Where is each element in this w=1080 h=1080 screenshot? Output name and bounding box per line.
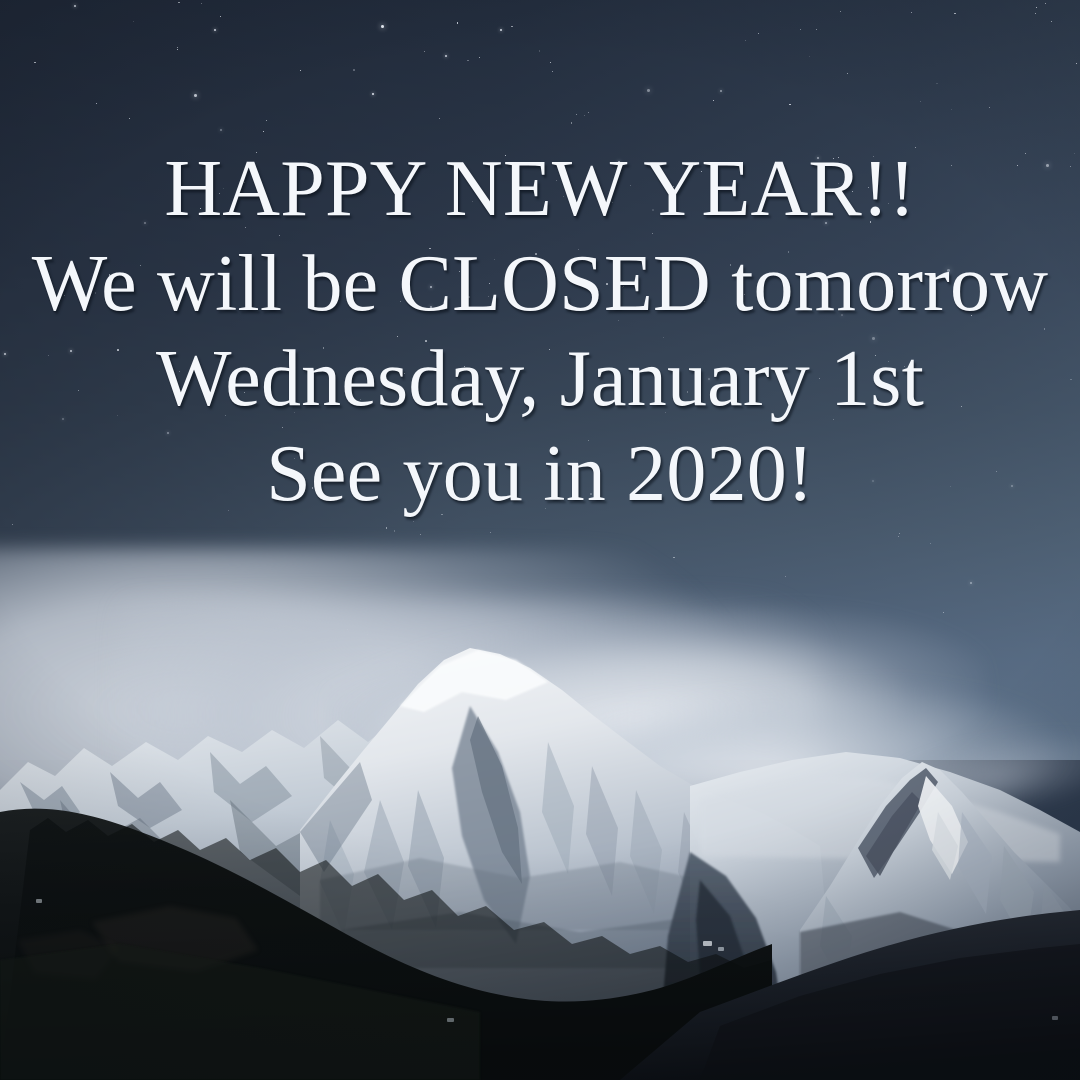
caption-block: HAPPY NEW YEAR!! We will be CLOSED tomor… [0,142,1080,522]
caption-line-4: See you in 2020! [0,427,1080,522]
caption-line-2: We will be CLOSED tomorrow [0,237,1080,332]
announcement-image: HAPPY NEW YEAR!! We will be CLOSED tomor… [0,0,1080,1080]
caption-line-3: Wednesday, January 1st [0,332,1080,427]
caption-line-1: HAPPY NEW YEAR!! [0,142,1080,237]
